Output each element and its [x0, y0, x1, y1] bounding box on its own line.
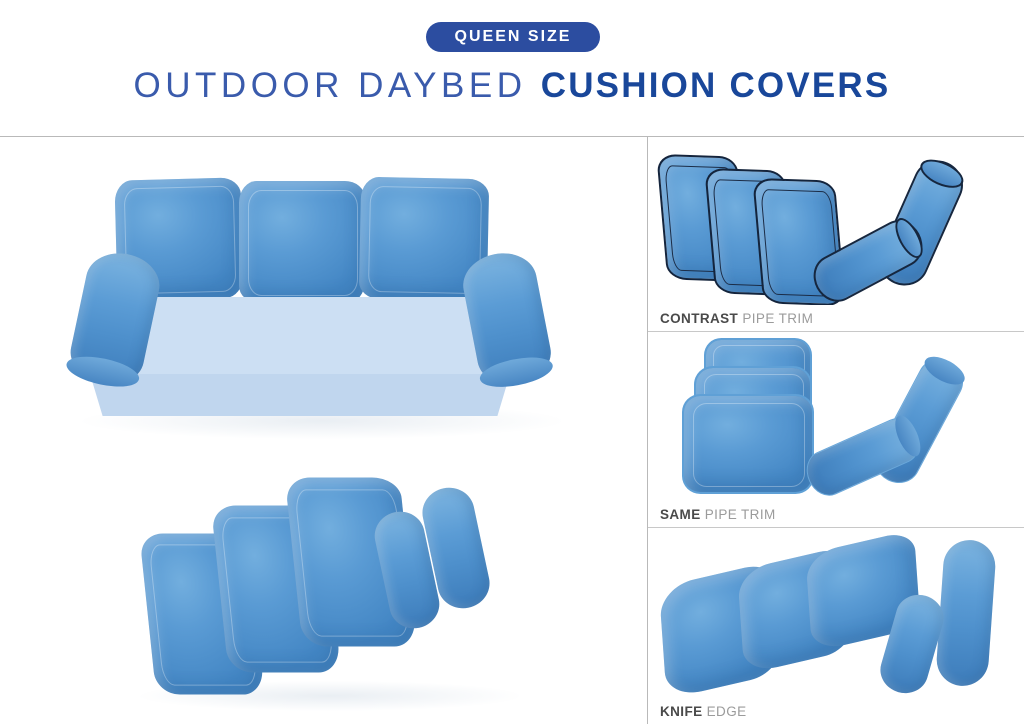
pillow-piping-seam	[693, 403, 805, 488]
daybed-mattress-face	[90, 374, 510, 416]
same-pipe-cushion	[682, 394, 814, 494]
style-panel-label-contrast: CONTRAST PIPE TRIM	[660, 312, 813, 326]
style-label-soft: PIPE TRIM	[742, 311, 813, 326]
page-header: QUEEN SIZE OUTDOOR DAYBED CUSHION COVERS	[0, 0, 1024, 136]
style-panel-same-pipe-trim: SAME PIPE TRIM	[648, 332, 1024, 527]
style-panel-label-knife: KNIFE EDGE	[660, 705, 747, 719]
style-label-strong: KNIFE	[660, 704, 703, 719]
same-pipe-trim-artwork	[648, 332, 1024, 500]
bolster-end-cap	[477, 352, 555, 392]
knife-edge-bolster	[935, 538, 997, 687]
page-title-emphasis: CUSHION COVERS	[541, 66, 891, 105]
style-label-strong: SAME	[660, 507, 701, 522]
style-label-strong: CONTRAST	[660, 311, 738, 326]
size-badge-label: QUEEN SIZE	[455, 29, 572, 45]
style-panel-knife-edge: KNIFE EDGE	[648, 528, 1024, 724]
knife-edge-artwork	[648, 528, 1024, 696]
back-pillow	[239, 181, 365, 303]
style-label-soft: EDGE	[707, 704, 747, 719]
content-area: CONTRAST PIPE TRIM	[0, 137, 1024, 724]
style-panel-contrast-pipe-trim: CONTRAST PIPE TRIM	[648, 137, 1024, 331]
page-title-primary: OUTDOOR DAYBED	[134, 66, 527, 105]
daybed-set-assembled-photo	[72, 157, 572, 437]
style-panel-column: CONTRAST PIPE TRIM	[648, 137, 1024, 724]
contrast-pipe-trim-artwork	[648, 137, 1024, 305]
size-badge: QUEEN SIZE	[426, 22, 600, 52]
main-photo-column	[0, 137, 647, 724]
style-label-soft: PIPE TRIM	[705, 507, 776, 522]
cushion-set-angled-photo	[130, 455, 530, 717]
same-pipe-bolster	[800, 412, 927, 500]
bolster-end-cap	[920, 351, 969, 390]
style-panel-label-same: SAME PIPE TRIM	[660, 508, 776, 522]
bolster-end-cap	[916, 154, 967, 194]
product-infographic-page: { "header": { "badge_label": "QUEEN SIZE…	[0, 0, 1024, 724]
pillow-seam	[248, 190, 358, 297]
page-title: OUTDOOR DAYBED CUSHION COVERS	[0, 68, 1024, 103]
